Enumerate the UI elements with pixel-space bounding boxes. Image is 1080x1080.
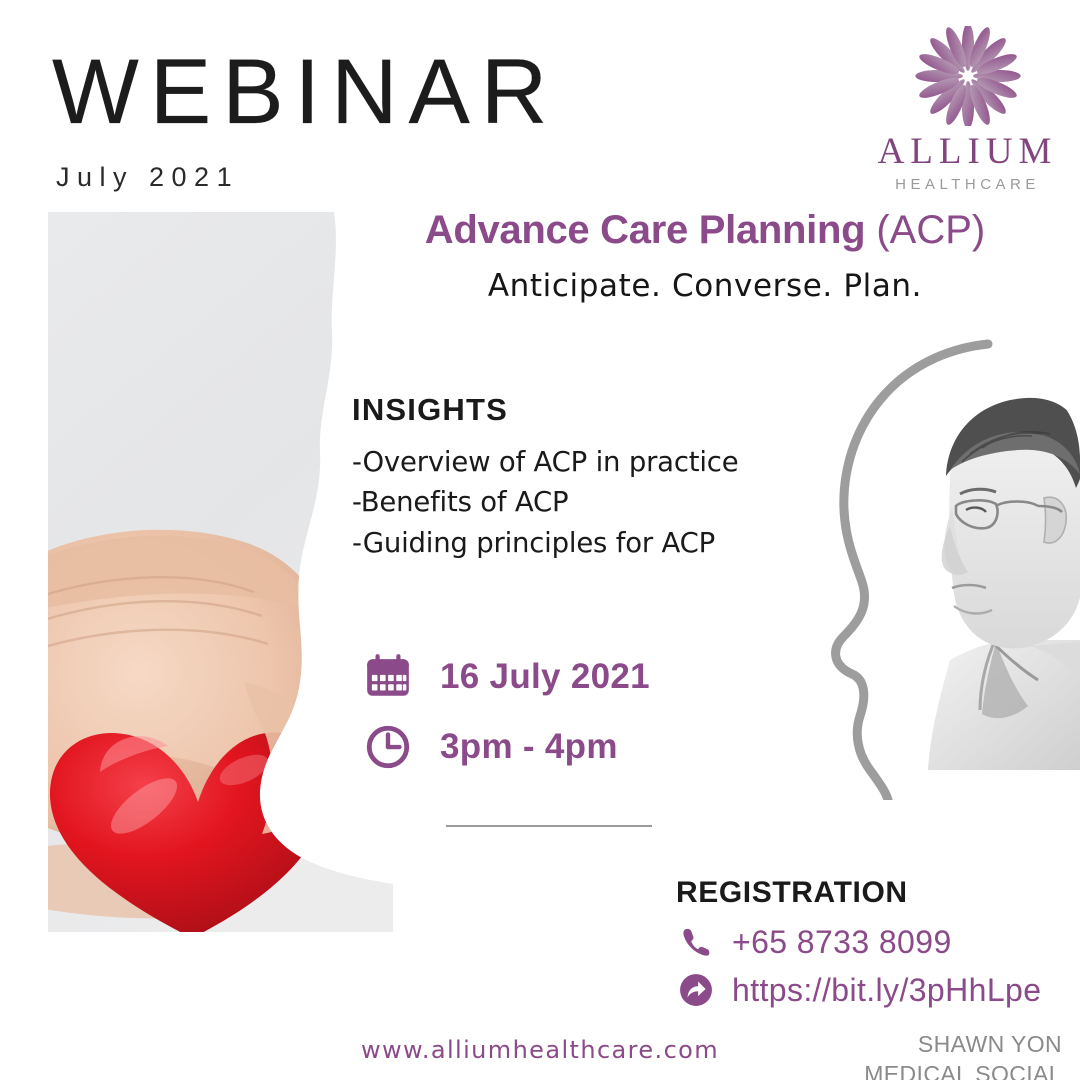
topic-title-main: Advance Care Planning bbox=[425, 208, 866, 252]
webinar-month-label: July 2021 bbox=[56, 162, 239, 193]
schedule-time-row: 3pm - 4pm bbox=[360, 716, 650, 778]
logo-wordmark: ALLIUM bbox=[855, 130, 1080, 173]
schedule-date-text: 16 July 2021 bbox=[440, 657, 650, 697]
allium-flower-mandala-icon bbox=[914, 26, 1022, 130]
calendar-icon bbox=[360, 649, 416, 705]
speaker-block: SHAWN YON MEDICAL SOCIAL WORKER bbox=[800, 330, 1080, 800]
link-share-icon bbox=[676, 970, 716, 1010]
list-item: -Benefits of ACP bbox=[352, 482, 872, 522]
topic-tagline: Anticipate. Converse. Plan. bbox=[0, 268, 1080, 304]
schedule-time-text: 3pm - 4pm bbox=[440, 727, 618, 767]
list-item: -Overview of ACP in practice bbox=[352, 442, 872, 482]
phone-icon bbox=[676, 922, 716, 962]
topic-title-abbrev: (ACP) bbox=[876, 208, 985, 252]
clock-icon bbox=[360, 719, 416, 775]
registration-heading: REGISTRATION bbox=[676, 876, 1080, 910]
logo-tagline: HEALTHCARE bbox=[855, 176, 1080, 193]
footer-website[interactable]: www.alliumhealthcare.com bbox=[0, 1036, 1080, 1064]
schedule-date-row: 16 July 2021 bbox=[360, 646, 650, 708]
page-title: WEBINAR bbox=[52, 46, 558, 138]
registration-link-row[interactable]: https://bit.ly/3pHhLpe bbox=[676, 970, 1080, 1010]
schedule-section: 16 July 2021 3pm - 4pm bbox=[360, 646, 650, 786]
insights-section: INSIGHTS -Overview of ACP in practice -B… bbox=[352, 392, 872, 563]
allium-healthcare-logo: ALLIUM HEALTHCARE bbox=[855, 26, 1080, 186]
registration-phone-row[interactable]: +65 8733 8099 bbox=[676, 922, 1080, 962]
registration-phone-text: +65 8733 8099 bbox=[732, 924, 952, 961]
hand-holding-red-heart-photo bbox=[48, 212, 393, 932]
webinar-poster: WEBINAR July 2021 bbox=[0, 0, 1080, 1080]
registration-link-text[interactable]: https://bit.ly/3pHhLpe bbox=[732, 972, 1041, 1009]
list-item: -Guiding principles for ACP bbox=[352, 523, 872, 563]
insights-heading: INSIGHTS bbox=[352, 392, 872, 428]
topic-title: Advance Care Planning (ACP) bbox=[0, 208, 1080, 252]
registration-section: REGISTRATION +65 8733 8099 https://bit.l… bbox=[676, 876, 1080, 1018]
section-divider bbox=[446, 825, 652, 827]
